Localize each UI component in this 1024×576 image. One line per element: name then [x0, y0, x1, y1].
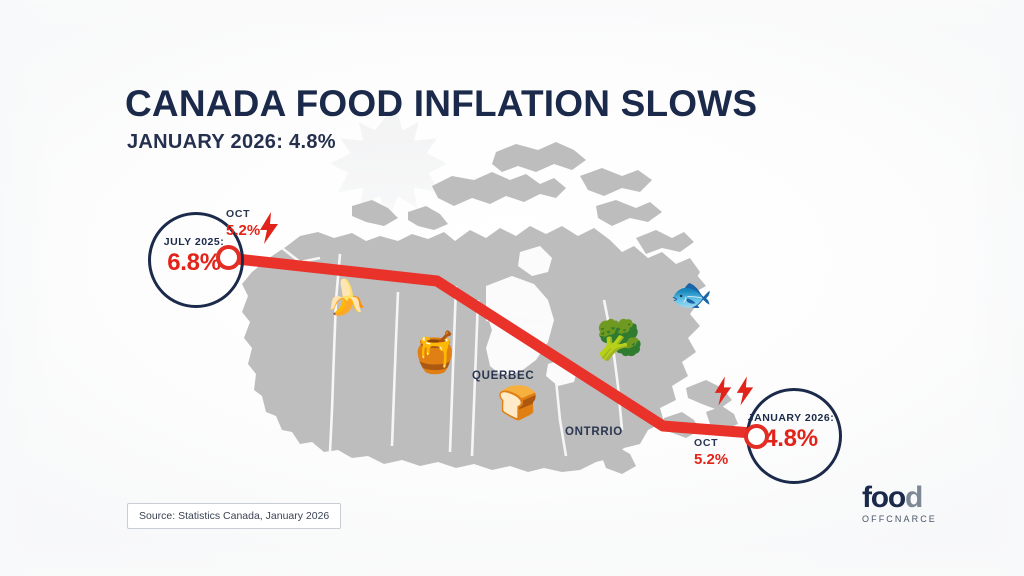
- maple-syrup-icon: 🍯: [410, 333, 460, 373]
- logo-word-tail: d: [905, 481, 922, 514]
- broccoli-icon: 🥦: [596, 322, 643, 360]
- oct-left-caption: OCT: [226, 208, 260, 220]
- logo-word-main: foo: [862, 481, 905, 514]
- january-2026-caption: JANUARY 2026:: [747, 412, 835, 424]
- lightning-bolt-icon: [735, 376, 755, 406]
- page-subtitle: JANUARY 2026: 4.8%: [127, 131, 336, 154]
- oct-annotation-left: OCT 5.2%: [226, 208, 260, 239]
- oct-right-value: 5.2%: [694, 451, 728, 468]
- bread-icon: 🍞: [497, 386, 538, 419]
- oct-left-value: 5.2%: [226, 222, 260, 239]
- oct-annotation-right: OCT 5.2%: [694, 437, 728, 468]
- logo-wordmark: food: [862, 484, 937, 513]
- january-2026-marker-dot[interactable]: [744, 424, 769, 449]
- infographic-canvas: 🍌 🍯 🍞 🥦 🐟 QUERBEC ONTRRIO JULY 2025: 6.8…: [0, 0, 1024, 576]
- lightning-bolt-icon: [258, 212, 280, 244]
- lightning-bolt-icon: [713, 376, 733, 406]
- province-label-quebec: QUERBEC: [472, 370, 534, 382]
- banana-icon: 🍌: [325, 281, 367, 315]
- fish-icon: 🐟: [670, 278, 712, 312]
- province-label-ontario: ONTRRIO: [565, 426, 623, 438]
- july-2025-marker-dot[interactable]: [216, 245, 241, 270]
- source-note: Source: Statistics Canada, January 2026: [127, 503, 341, 529]
- oct-right-caption: OCT: [694, 437, 728, 449]
- page-title: CANADA FOOD INFLATION SLOWS: [125, 85, 757, 124]
- brand-logo: food OFFCNARCE: [862, 484, 937, 524]
- logo-subtext: OFFCNARCE: [862, 514, 937, 524]
